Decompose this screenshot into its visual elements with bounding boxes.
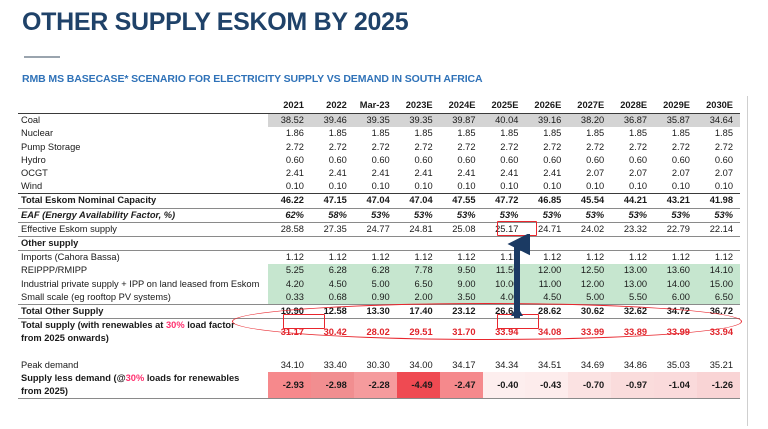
cell-peak-2025e: 34.34 bbox=[483, 359, 526, 372]
sld-label-pct: 30% bbox=[126, 373, 145, 383]
table-row-reippp: REIPPP/RMIPP 5.25 6.28 6.28 7.78 9.50 11… bbox=[18, 264, 740, 277]
row-label-eaf: EAF (Energy Availability Factor, %) bbox=[18, 208, 268, 222]
cell-imports-2030e: 1.12 bbox=[697, 251, 740, 265]
sld-label-line2: from 2025) bbox=[21, 386, 68, 396]
cell-sld-2023e: -4.49 bbox=[397, 372, 440, 399]
row-label-hydro: Hydro bbox=[18, 154, 268, 167]
cell-peak-2028e: 34.86 bbox=[611, 359, 654, 372]
cell-imports-2026e: 1.12 bbox=[525, 251, 568, 265]
cell-imports-2027e: 1.12 bbox=[568, 251, 611, 265]
row-label-ocgt: OCGT bbox=[18, 167, 268, 180]
cell-effective-mar23: 24.77 bbox=[354, 222, 397, 236]
cell-peak-2024e: 34.17 bbox=[440, 359, 483, 372]
table-row-effective-supply: Effective Eskom supply 28.58 27.35 24.77… bbox=[18, 222, 740, 236]
cell-ocgt-2023e: 2.41 bbox=[397, 167, 440, 180]
cell-hydro-mar23: 0.60 bbox=[354, 154, 397, 167]
cell-nuclear-2022: 1.85 bbox=[311, 127, 354, 140]
column-header-mar23: Mar-23 bbox=[354, 99, 397, 114]
column-header-2030e: 2030E bbox=[697, 99, 740, 114]
spacer-cell-3 bbox=[354, 346, 397, 359]
column-header-2022: 2022 bbox=[311, 99, 354, 114]
cell-hydro-2029e: 0.60 bbox=[654, 154, 697, 167]
cell-industrial-2030e: 15.00 bbox=[697, 278, 740, 291]
cell-imports-2029e: 1.12 bbox=[654, 251, 697, 265]
cell-smallscale-2027e: 5.00 bbox=[568, 291, 611, 305]
cell-totalnom-mar23: 47.04 bbox=[354, 194, 397, 208]
cell-peak-2023e: 34.00 bbox=[397, 359, 440, 372]
cell-ocgt-2030e: 2.07 bbox=[697, 167, 740, 180]
spacer-cell-0 bbox=[18, 346, 268, 359]
total-supply-label-line2: from 2025 onwards) bbox=[21, 333, 109, 343]
table-row-industrial-private-supply: Industrial private supply + IPP on land … bbox=[18, 278, 740, 291]
cell-wind-2022: 0.10 bbox=[311, 180, 354, 194]
cell-pump-2021: 2.72 bbox=[268, 141, 311, 154]
column-header-2023e: 2023E bbox=[397, 99, 440, 114]
cell-pump-2026e: 2.72 bbox=[525, 141, 568, 154]
table-spacer-row bbox=[18, 346, 740, 359]
cell-effective-2024e: 25.08 bbox=[440, 222, 483, 236]
cell-reippp-2024e: 9.50 bbox=[440, 264, 483, 277]
slide-right-border bbox=[747, 96, 748, 426]
cell-eaf-2022: 58% bbox=[311, 208, 354, 222]
cell-wind-2028e: 0.10 bbox=[611, 180, 654, 194]
cell-imports-2022: 1.12 bbox=[311, 251, 354, 265]
cell-coal-mar23: 39.35 bbox=[354, 114, 397, 128]
cell-industrial-2022: 4.50 bbox=[311, 278, 354, 291]
cell-othersupply-blank-4 bbox=[397, 237, 440, 251]
table-row-pump-storage: Pump Storage 2.72 2.72 2.72 2.72 2.72 2.… bbox=[18, 141, 740, 154]
cell-othersupply-blank-1 bbox=[268, 237, 311, 251]
spacer-cell-5 bbox=[440, 346, 483, 359]
cell-eaf-2029e: 53% bbox=[654, 208, 697, 222]
cell-nuclear-2028e: 1.85 bbox=[611, 127, 654, 140]
cell-sld-2024e: -2.47 bbox=[440, 372, 483, 399]
cell-pump-2022: 2.72 bbox=[311, 141, 354, 154]
cell-industrial-mar23: 5.00 bbox=[354, 278, 397, 291]
cell-eaf-mar23: 53% bbox=[354, 208, 397, 222]
cell-imports-2028e: 1.12 bbox=[611, 251, 654, 265]
cell-eaf-2027e: 53% bbox=[568, 208, 611, 222]
cell-wind-2024e: 0.10 bbox=[440, 180, 483, 194]
cell-peak-2029e: 35.03 bbox=[654, 359, 697, 372]
cell-ocgt-2021: 2.41 bbox=[268, 167, 311, 180]
cell-pump-2030e: 2.72 bbox=[697, 141, 740, 154]
cell-pump-2027e: 2.72 bbox=[568, 141, 611, 154]
table-row-hydro: Hydro 0.60 0.60 0.60 0.60 0.60 0.60 0.60… bbox=[18, 154, 740, 167]
row-label-peak-demand: Peak demand bbox=[18, 359, 268, 372]
row-label-total-nominal-capacity: Total Eskom Nominal Capacity bbox=[18, 194, 268, 208]
cell-nuclear-2025e: 1.85 bbox=[483, 127, 526, 140]
cell-pump-2025e: 2.72 bbox=[483, 141, 526, 154]
column-header-2026e: 2026E bbox=[525, 99, 568, 114]
row-label-effective-supply: Effective Eskom supply bbox=[18, 222, 268, 236]
cell-sld-2021: -2.93 bbox=[268, 372, 311, 399]
cell-effective-2029e: 22.79 bbox=[654, 222, 697, 236]
cell-ocgt-mar23: 2.41 bbox=[354, 167, 397, 180]
cell-othersupply-blank-11 bbox=[697, 237, 740, 251]
cell-ocgt-2022: 2.41 bbox=[311, 167, 354, 180]
cell-sld-2026e: -0.43 bbox=[525, 372, 568, 399]
cell-hydro-2030e: 0.60 bbox=[697, 154, 740, 167]
total-supply-label-part1: Total supply (with renewables at bbox=[21, 320, 166, 330]
table-row-imports: Imports (Cahora Bassa) 1.12 1.12 1.12 1.… bbox=[18, 251, 740, 265]
cell-othersupply-blank-10 bbox=[654, 237, 697, 251]
cell-coal-2022: 39.46 bbox=[311, 114, 354, 128]
cell-totalnom-2021: 46.22 bbox=[268, 194, 311, 208]
cell-hydro-2022: 0.60 bbox=[311, 154, 354, 167]
cell-othersupply-blank-9 bbox=[611, 237, 654, 251]
cell-peak-2022: 33.40 bbox=[311, 359, 354, 372]
cell-eaf-2024e: 53% bbox=[440, 208, 483, 222]
column-header-2027e: 2027E bbox=[568, 99, 611, 114]
cell-industrial-2026e: 11.00 bbox=[525, 278, 568, 291]
cell-hydro-2023e: 0.60 bbox=[397, 154, 440, 167]
cell-smallscale-mar23: 0.90 bbox=[354, 291, 397, 305]
cell-effective-2023e: 24.81 bbox=[397, 222, 440, 236]
cell-wind-2026e: 0.10 bbox=[525, 180, 568, 194]
sld-label-part2: loads for renewables bbox=[144, 373, 239, 383]
cell-hydro-2021: 0.60 bbox=[268, 154, 311, 167]
cell-coal-2027e: 38.20 bbox=[568, 114, 611, 128]
cell-othersupply-blank-2 bbox=[311, 237, 354, 251]
cell-reippp-2026e: 12.00 bbox=[525, 264, 568, 277]
spacer-cell-7 bbox=[525, 346, 568, 359]
cell-totalnom-2030e: 41.98 bbox=[697, 194, 740, 208]
cell-nuclear-2027e: 1.85 bbox=[568, 127, 611, 140]
cell-ocgt-2029e: 2.07 bbox=[654, 167, 697, 180]
cell-coal-2026e: 39.16 bbox=[525, 114, 568, 128]
row-label-wind: Wind bbox=[18, 180, 268, 194]
table-row-supply-less-demand: Supply less demand (@30% loads for renew… bbox=[18, 372, 740, 399]
cell-coal-2025e: 40.04 bbox=[483, 114, 526, 128]
table-header-row: 2021 2022 Mar-23 2023E 2024E 2025E 2026E… bbox=[18, 99, 740, 114]
cell-totalnom-2028e: 44.21 bbox=[611, 194, 654, 208]
spacer-cell-8 bbox=[568, 346, 611, 359]
table-section-header-other-supply: Other supply bbox=[18, 237, 740, 251]
row-label-nuclear: Nuclear bbox=[18, 127, 268, 140]
slide-canvas: OTHER SUPPLY ESKOM BY 2025 RMB MS BASECA… bbox=[0, 0, 768, 429]
cell-ocgt-2027e: 2.07 bbox=[568, 167, 611, 180]
column-header-2029e: 2029E bbox=[654, 99, 697, 114]
row-label-total-other-supply: Total Other Supply bbox=[18, 305, 268, 319]
cell-sld-2022: -2.98 bbox=[311, 372, 354, 399]
cell-ocgt-2025e: 2.41 bbox=[483, 167, 526, 180]
cell-reippp-mar23: 6.28 bbox=[354, 264, 397, 277]
cell-totalnom-2023e: 47.04 bbox=[397, 194, 440, 208]
cell-effective-2028e: 23.32 bbox=[611, 222, 654, 236]
cell-pump-2029e: 2.72 bbox=[654, 141, 697, 154]
table-row-eaf: EAF (Energy Availability Factor, %) 62% … bbox=[18, 208, 740, 222]
cell-effective-2030e: 22.14 bbox=[697, 222, 740, 236]
column-header-blank bbox=[18, 99, 268, 114]
row-label-imports: Imports (Cahora Bassa) bbox=[18, 251, 268, 265]
cell-othersupply-blank-8 bbox=[568, 237, 611, 251]
row-label-small-scale: Small scale (eg rooftop PV systems) bbox=[18, 291, 268, 305]
column-header-2024e: 2024E bbox=[440, 99, 483, 114]
cell-reippp-2030e: 14.10 bbox=[697, 264, 740, 277]
cell-hydro-2024e: 0.60 bbox=[440, 154, 483, 167]
cell-nuclear-mar23: 1.85 bbox=[354, 127, 397, 140]
cell-nuclear-2029e: 1.85 bbox=[654, 127, 697, 140]
cell-industrial-2028e: 13.00 bbox=[611, 278, 654, 291]
cell-coal-2023e: 39.35 bbox=[397, 114, 440, 128]
cell-nuclear-2023e: 1.85 bbox=[397, 127, 440, 140]
cell-sld-2030e: -1.26 bbox=[697, 372, 740, 399]
spacer-cell-11 bbox=[697, 346, 740, 359]
cell-hydro-2025e: 0.60 bbox=[483, 154, 526, 167]
cell-pump-2028e: 2.72 bbox=[611, 141, 654, 154]
row-label-industrial-private-supply: Industrial private supply + IPP on land … bbox=[18, 278, 268, 291]
cell-wind-mar23: 0.10 bbox=[354, 180, 397, 194]
cell-pump-mar23: 2.72 bbox=[354, 141, 397, 154]
cell-reippp-2027e: 12.50 bbox=[568, 264, 611, 277]
cell-industrial-2024e: 9.00 bbox=[440, 278, 483, 291]
cell-hydro-2027e: 0.60 bbox=[568, 154, 611, 167]
cell-wind-2021: 0.10 bbox=[268, 180, 311, 194]
cell-othersupply-blank-7 bbox=[525, 237, 568, 251]
cell-othersupply-blank-3 bbox=[354, 237, 397, 251]
cell-sld-2028e: -0.97 bbox=[611, 372, 654, 399]
cell-smallscale-2022: 0.68 bbox=[311, 291, 354, 305]
row-label-pump-storage: Pump Storage bbox=[18, 141, 268, 154]
cell-effective-2027e: 24.02 bbox=[568, 222, 611, 236]
spacer-cell-1 bbox=[268, 346, 311, 359]
cell-effective-2022: 27.35 bbox=[311, 222, 354, 236]
cell-smallscale-2028e: 5.50 bbox=[611, 291, 654, 305]
cell-nuclear-2030e: 1.85 bbox=[697, 127, 740, 140]
table-row-peak-demand: Peak demand 34.10 33.40 30.30 34.00 34.1… bbox=[18, 359, 740, 372]
spacer-cell-9 bbox=[611, 346, 654, 359]
cell-totalnom-2022: 47.15 bbox=[311, 194, 354, 208]
row-label-supply-less-demand: Supply less demand (@30% loads for renew… bbox=[18, 372, 268, 399]
cell-smallscale-2029e: 6.00 bbox=[654, 291, 697, 305]
cell-wind-2030e: 0.10 bbox=[697, 180, 740, 194]
row-label-reippp: REIPPP/RMIPP bbox=[18, 264, 268, 277]
cell-industrial-2027e: 12.00 bbox=[568, 278, 611, 291]
cell-reippp-2023e: 7.78 bbox=[397, 264, 440, 277]
table-row-coal: Coal 38.52 39.46 39.35 39.35 39.87 40.04… bbox=[18, 114, 740, 128]
column-header-2028e: 2028E bbox=[611, 99, 654, 114]
cell-pump-2023e: 2.72 bbox=[397, 141, 440, 154]
column-header-2025e: 2025E bbox=[483, 99, 526, 114]
cell-eaf-2023e: 53% bbox=[397, 208, 440, 222]
cell-imports-2021: 1.12 bbox=[268, 251, 311, 265]
cell-peak-2026e: 34.51 bbox=[525, 359, 568, 372]
row-label-other-supply: Other supply bbox=[18, 237, 268, 251]
cell-sld-2029e: -1.04 bbox=[654, 372, 697, 399]
table-row-wind: Wind 0.10 0.10 0.10 0.10 0.10 0.10 0.10 … bbox=[18, 180, 740, 194]
spacer-cell-4 bbox=[397, 346, 440, 359]
spacer-cell-2 bbox=[311, 346, 354, 359]
cell-nuclear-2021: 1.86 bbox=[268, 127, 311, 140]
cell-coal-2030e: 34.64 bbox=[697, 114, 740, 128]
cell-ocgt-2028e: 2.07 bbox=[611, 167, 654, 180]
row-label-coal: Coal bbox=[18, 114, 268, 128]
cell-totalnom-2027e: 45.54 bbox=[568, 194, 611, 208]
table-row-ocgt: OCGT 2.41 2.41 2.41 2.41 2.41 2.41 2.41 … bbox=[18, 167, 740, 180]
cell-totalnom-2026e: 46.85 bbox=[525, 194, 568, 208]
cell-peak-2030e: 35.21 bbox=[697, 359, 740, 372]
supply-demand-table: 2021 2022 Mar-23 2023E 2024E 2025E 2026E… bbox=[18, 99, 740, 399]
cell-imports-2023e: 1.12 bbox=[397, 251, 440, 265]
column-header-2021: 2021 bbox=[268, 99, 311, 114]
supply-demand-table-wrapper: 2021 2022 Mar-23 2023E 2024E 2025E 2026E… bbox=[18, 99, 740, 399]
cell-coal-2028e: 36.87 bbox=[611, 114, 654, 128]
cell-nuclear-2024e: 1.85 bbox=[440, 127, 483, 140]
cell-industrial-2021: 4.20 bbox=[268, 278, 311, 291]
cell-othersupply-blank-5 bbox=[440, 237, 483, 251]
table-row-nuclear: Nuclear 1.86 1.85 1.85 1.85 1.85 1.85 1.… bbox=[18, 127, 740, 140]
total-supply-label-part2: load factor bbox=[185, 320, 235, 330]
trend-arrow-up bbox=[506, 234, 530, 324]
cell-wind-2029e: 0.10 bbox=[654, 180, 697, 194]
cell-totalnom-2024e: 47.55 bbox=[440, 194, 483, 208]
total-supply-label-pct: 30% bbox=[166, 320, 185, 330]
cell-eaf-2021: 62% bbox=[268, 208, 311, 222]
cell-totalnom-2029e: 43.21 bbox=[654, 194, 697, 208]
cell-sld-2027e: -0.70 bbox=[568, 372, 611, 399]
highlight-ellipse-total-other-supply-row bbox=[232, 303, 742, 340]
cell-eaf-2030e: 53% bbox=[697, 208, 740, 222]
cell-reippp-2022: 6.28 bbox=[311, 264, 354, 277]
cell-peak-mar23: 30.30 bbox=[354, 359, 397, 372]
table-row-total-nominal-capacity: Total Eskom Nominal Capacity 46.22 47.15… bbox=[18, 194, 740, 208]
cell-reippp-2029e: 13.60 bbox=[654, 264, 697, 277]
cell-reippp-2021: 5.25 bbox=[268, 264, 311, 277]
cell-wind-2025e: 0.10 bbox=[483, 180, 526, 194]
chart-subtitle: RMB MS BASECASE* SCENARIO FOR ELECTRICIT… bbox=[22, 73, 482, 85]
cell-coal-2021: 38.52 bbox=[268, 114, 311, 128]
cell-peak-2021: 34.10 bbox=[268, 359, 311, 372]
cell-hydro-2026e: 0.60 bbox=[525, 154, 568, 167]
cell-pump-2024e: 2.72 bbox=[440, 141, 483, 154]
sld-label-part1: Supply less demand (@ bbox=[21, 373, 126, 383]
cell-imports-2024e: 1.12 bbox=[440, 251, 483, 265]
cell-reippp-2028e: 13.00 bbox=[611, 264, 654, 277]
spacer-cell-10 bbox=[654, 346, 697, 359]
cell-ocgt-2026e: 2.41 bbox=[525, 167, 568, 180]
cell-smallscale-2030e: 6.50 bbox=[697, 291, 740, 305]
cell-nuclear-2026e: 1.85 bbox=[525, 127, 568, 140]
cell-hydro-2028e: 0.60 bbox=[611, 154, 654, 167]
cell-eaf-2028e: 53% bbox=[611, 208, 654, 222]
cell-imports-mar23: 1.12 bbox=[354, 251, 397, 265]
cell-industrial-2023e: 6.50 bbox=[397, 278, 440, 291]
cell-effective-2021: 28.58 bbox=[268, 222, 311, 236]
title-divider bbox=[24, 56, 60, 58]
cell-ocgt-2024e: 2.41 bbox=[440, 167, 483, 180]
cell-wind-2027e: 0.10 bbox=[568, 180, 611, 194]
cell-totalnom-2025e: 47.72 bbox=[483, 194, 526, 208]
cell-industrial-2029e: 14.00 bbox=[654, 278, 697, 291]
cell-smallscale-2021: 0.33 bbox=[268, 291, 311, 305]
row-label-total-supply: Total supply (with renewables at 30% loa… bbox=[18, 319, 268, 346]
cell-peak-2027e: 34.69 bbox=[568, 359, 611, 372]
spacer-cell-6 bbox=[483, 346, 526, 359]
cell-coal-2029e: 35.87 bbox=[654, 114, 697, 128]
cell-coal-2024e: 39.87 bbox=[440, 114, 483, 128]
cell-wind-2023e: 0.10 bbox=[397, 180, 440, 194]
cell-sld-2025e: -0.40 bbox=[483, 372, 526, 399]
page-title: OTHER SUPPLY ESKOM BY 2025 bbox=[22, 8, 408, 37]
cell-sld-mar23: -2.28 bbox=[354, 372, 397, 399]
table-row-small-scale: Small scale (eg rooftop PV systems) 0.33… bbox=[18, 291, 740, 305]
